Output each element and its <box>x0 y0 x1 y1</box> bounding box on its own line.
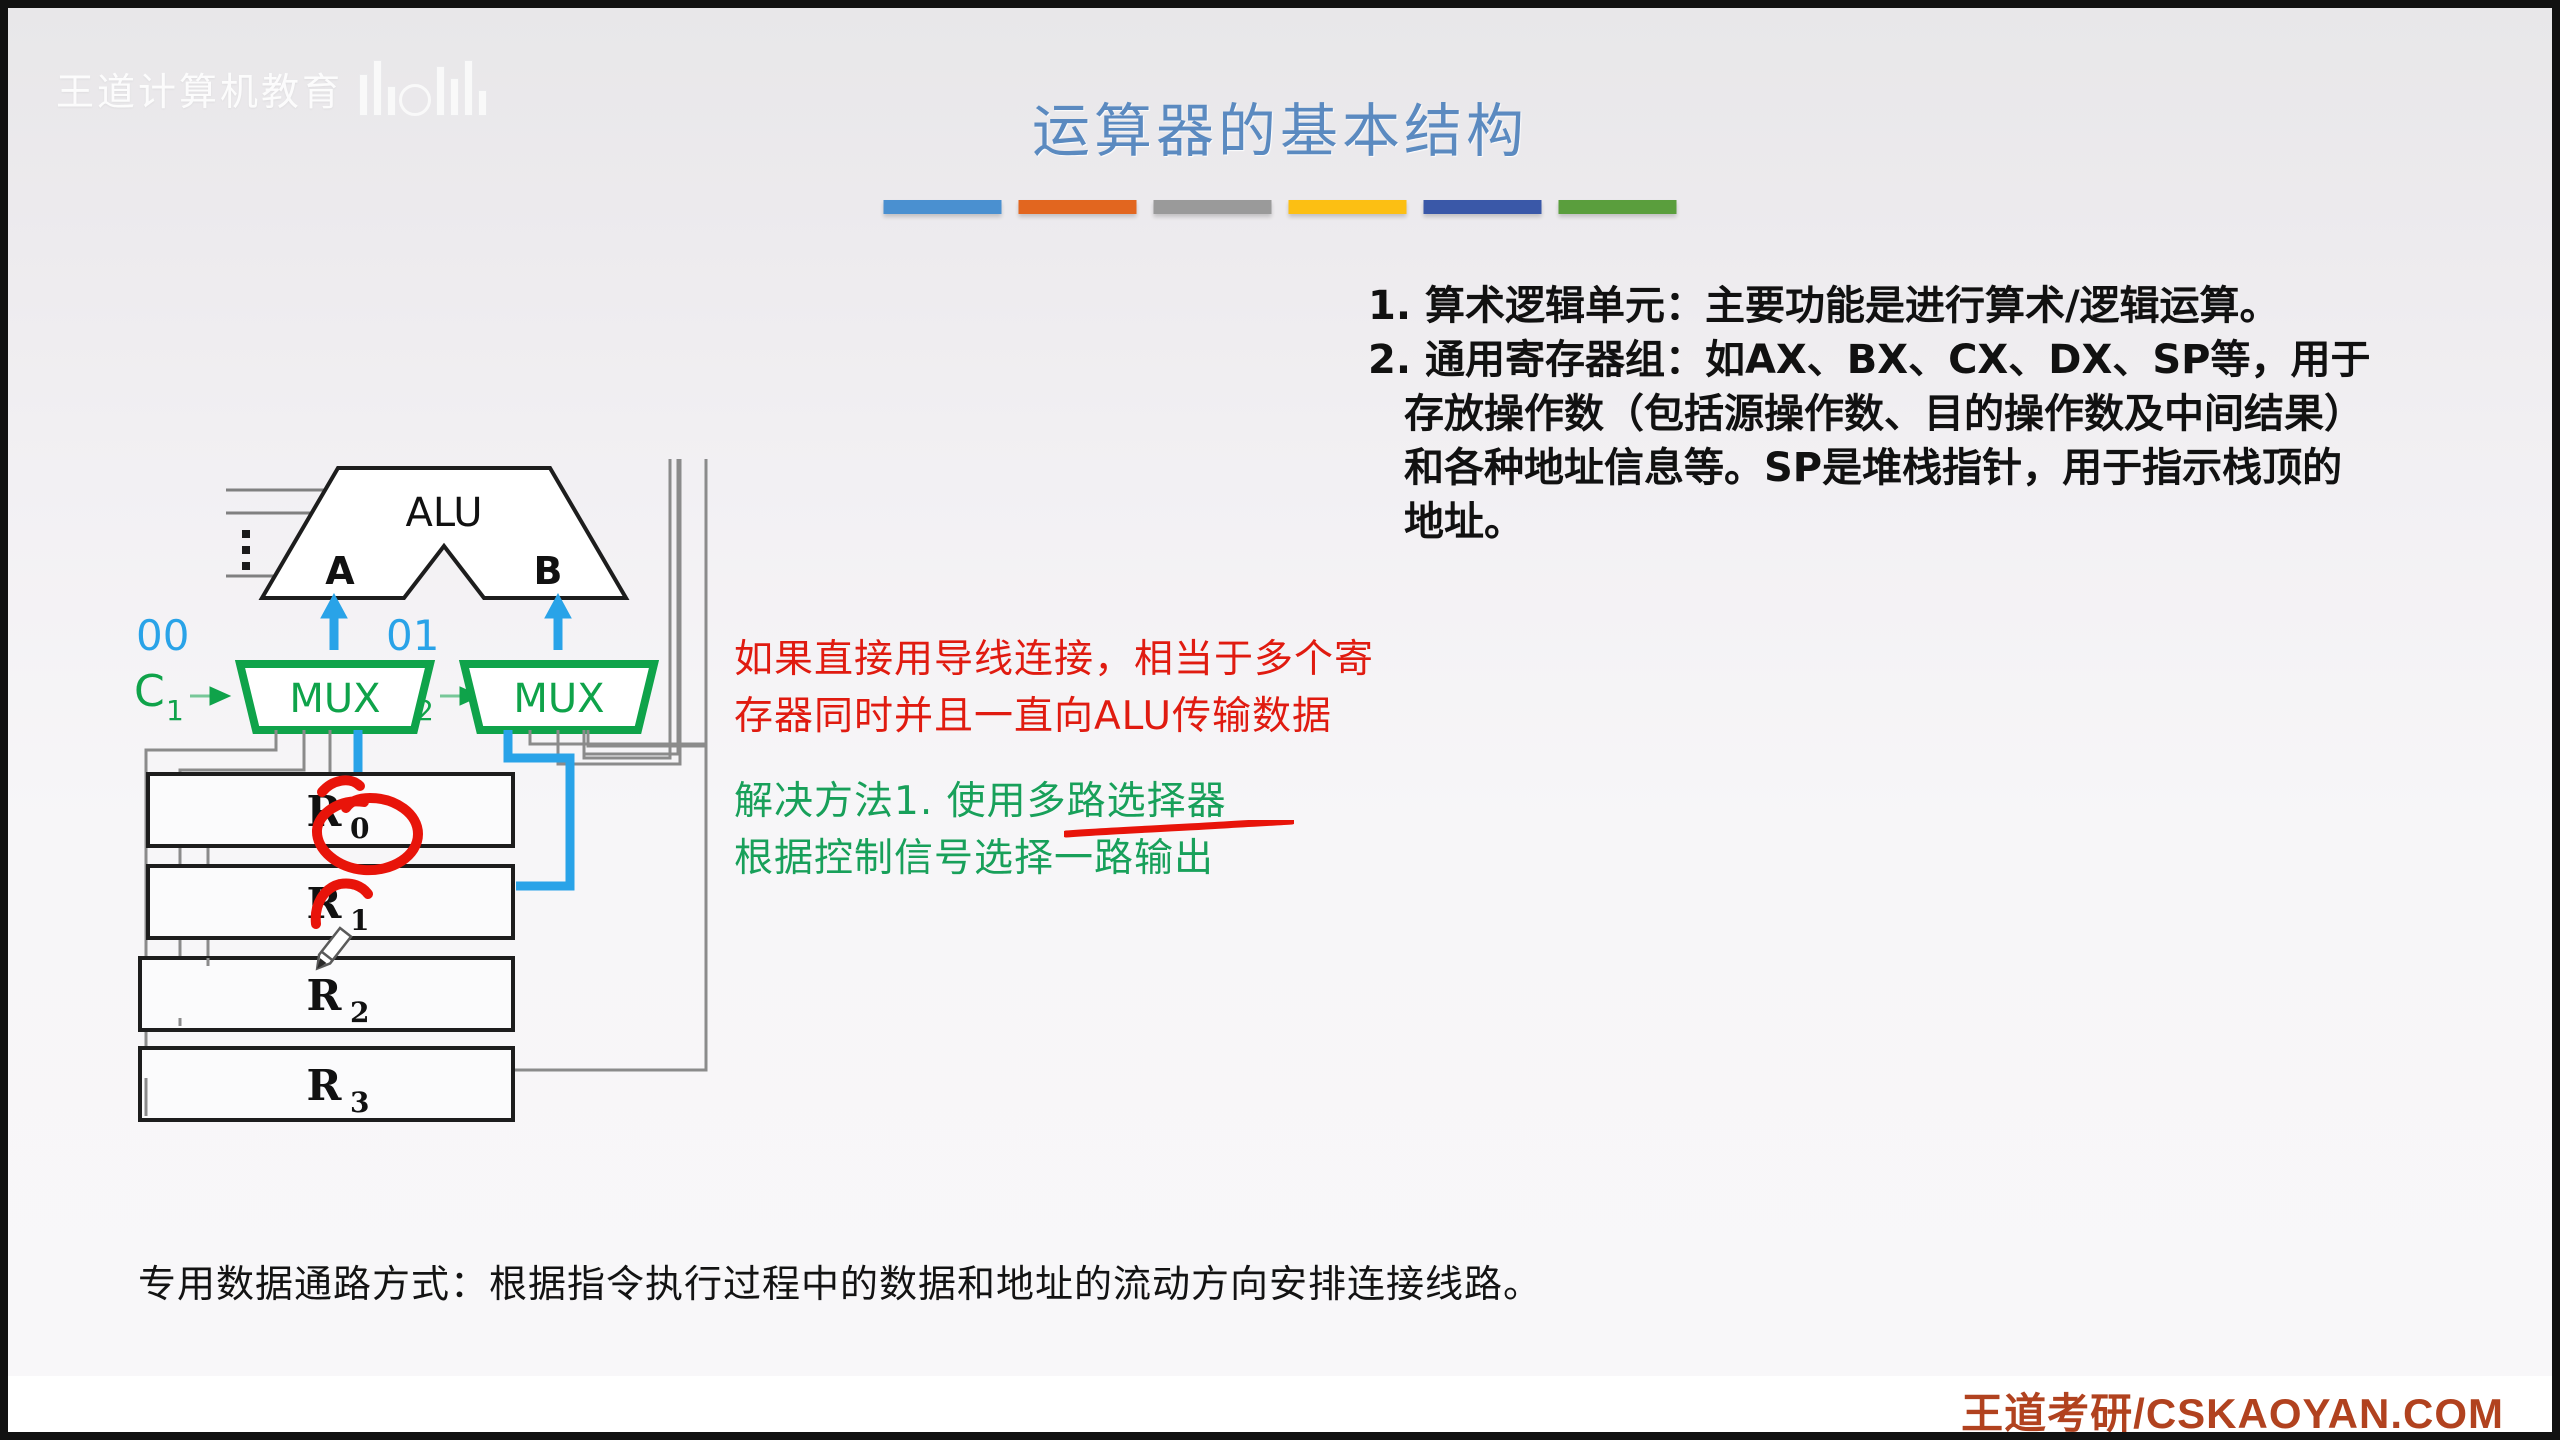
mux-to-alu-arrows <box>321 594 571 650</box>
slide-canvas: 王道计算机教育 运算器的基本结构 1. 算术逻辑单元：主要功能是进行算术/逻辑运… <box>8 8 2552 1432</box>
bullet-line-5: 地址。 <box>1368 496 2528 548</box>
rule-segment-1 <box>884 200 1002 214</box>
alu-input-a-label: A <box>325 549 355 593</box>
register-label-r3: R <box>307 1061 343 1110</box>
bus-right <box>508 730 570 886</box>
bullet-list: 1. 算术逻辑单元：主要功能是进行算术/逻辑运算。 2. 通用寄存器组：如AX、… <box>1368 280 2528 550</box>
mux-left-label: MUX <box>289 676 380 722</box>
rule-segment-3 <box>1154 200 1272 214</box>
bullet-line-3: 存放操作数（包括源操作数、目的操作数及中间结果） <box>1368 388 2528 440</box>
red-annotation: 如果直接用导线连接，相当于多个寄 存器同时并且一直向ALU传输数据 <box>734 632 1374 745</box>
brand-footer: 王道考研/CSKAOYAN.COM <box>1961 1380 2504 1432</box>
alu-input-b-label: B <box>534 549 563 593</box>
bullet-line-2: 2. 通用寄存器组：如AX、BX、CX、DX、SP等，用于 <box>1368 334 2528 386</box>
control-c1-sub: 1 <box>166 694 184 727</box>
bottom-note: 专用数据通路方式：根据指令执行过程中的数据和地址的流动方向安排连接线路。 <box>138 1253 1542 1308</box>
datapath-diagram: ALU A B 00 01 C 1 C 2 <box>118 458 758 1178</box>
register-sub-r3: 3 <box>350 1086 369 1119</box>
register-sub-r0: 0 <box>350 812 369 845</box>
rule-segment-2 <box>1019 200 1137 214</box>
green-annotation-line-1: 解决方法1. 使用多路选择器 <box>734 774 1227 831</box>
mux-right-select-label: 01 <box>386 611 439 660</box>
rule-segment-5 <box>1424 200 1542 214</box>
mux-left-select-label: 00 <box>136 611 189 660</box>
register-sub-r2: 2 <box>350 996 369 1029</box>
green-annotation-line-2: 根据控制信号选择一路输出 <box>734 831 1227 888</box>
page-title: 运算器的基本结构 <box>8 84 2552 168</box>
register-label-r2: R <box>307 971 343 1020</box>
register-sub-r1: 1 <box>350 904 369 937</box>
mux-right-label: MUX <box>513 676 604 722</box>
green-annotation: 解决方法1. 使用多路选择器 根据控制信号选择一路输出 <box>734 774 1227 887</box>
bullet-line-1: 1. 算术逻辑单元：主要功能是进行算术/逻辑运算。 <box>1368 280 2528 332</box>
rule-segment-6 <box>1559 200 1677 214</box>
alu-label: ALU <box>406 490 483 536</box>
rule-segment-4 <box>1289 200 1407 214</box>
slide-board: 王道计算机教育 运算器的基本结构 1. 算术逻辑单元：主要功能是进行算术/逻辑运… <box>8 8 2552 1376</box>
red-annotation-line-2: 存器同时并且一直向ALU传输数据 <box>734 689 1374 746</box>
bullet-line-4: 和各种地址信息等。SP是堆栈指针，用于指示栈顶的 <box>1368 442 2528 494</box>
alu-control-ellipsis-icon <box>242 530 250 570</box>
title-rule <box>884 200 1677 214</box>
control-c1-label: C <box>134 666 165 717</box>
red-annotation-line-1: 如果直接用导线连接，相当于多个寄 <box>734 632 1374 689</box>
